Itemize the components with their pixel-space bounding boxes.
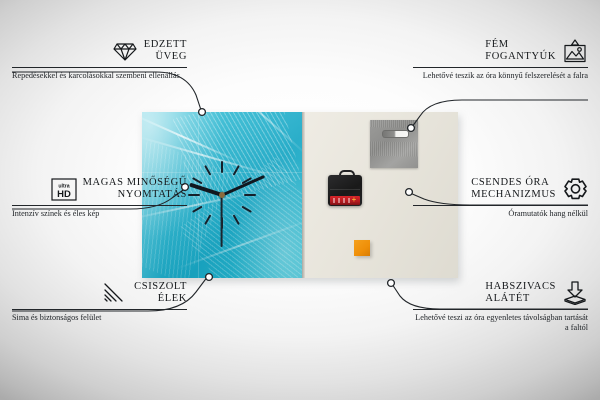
callout-polished-edges: CSISZOLT ÉLEK Sima és biztonságos felüle…	[12, 280, 187, 323]
battery: +	[330, 196, 360, 205]
picture-hanger-icon	[562, 38, 588, 64]
callout-description: Sima és biztonságos felület	[12, 313, 187, 323]
callout-metal-handles: FÉM FOGANTYÚK Lehetővé teszik az óra kön…	[413, 38, 588, 81]
callout-rule	[12, 309, 187, 310]
callout-title: EDZETT ÜVEG	[144, 39, 187, 64]
diamond-icon	[112, 38, 138, 64]
metal-hanger-plate	[370, 120, 418, 168]
gear-icon	[562, 176, 588, 202]
callout-rule	[413, 309, 588, 310]
callout-tempered-glass: EDZETT ÜVEG Repedésekkel és karcolásokka…	[12, 38, 187, 81]
callout-description: Repedésekkel és karcolásokkal szembeni e…	[12, 71, 187, 81]
callout-high-quality-print: ultra HD MAGAS MINŐSÉGŰ NYOMTATÁS Intenz…	[12, 176, 187, 219]
callout-rule	[413, 67, 588, 68]
callout-title: HABSZIVACS ALÁTÉT	[485, 281, 556, 306]
panel-divider	[302, 112, 305, 278]
callout-description: Lehetővé teszi az óra egyenletes távolsá…	[413, 313, 588, 333]
callout-title: CSENDES ÓRA MECHANIZMUS	[471, 177, 556, 202]
callout-rule	[12, 67, 187, 68]
clock-mechanism: +	[328, 170, 362, 206]
product-image: +	[142, 112, 458, 278]
callout-description: Óramutatók hang nélkül	[413, 209, 588, 219]
callout-description: Lehetővé teszik az óra könnyű felszerelé…	[413, 71, 588, 81]
callout-title: FÉM FOGANTYÚK	[485, 39, 556, 64]
svg-text:HD: HD	[57, 189, 71, 200]
callout-rule	[12, 205, 187, 206]
foam-pad-icon	[562, 280, 588, 306]
callout-silent-mechanism: CSENDES ÓRA MECHANIZMUS Óramutatók hang …	[413, 176, 588, 219]
callout-description: Intenzív színek és éles kép	[12, 209, 187, 219]
clock-center-cap	[219, 192, 225, 198]
battery-plus-label: +	[351, 197, 357, 203]
infographic-canvas: +	[0, 0, 600, 400]
callout-foam-spacer: HABSZIVACS ALÁTÉT Lehetővé teszi az óra …	[413, 280, 588, 333]
foam-spacer-pad	[354, 240, 370, 256]
mechanism-body: +	[328, 175, 362, 206]
ultra-hd-icon: ultra HD	[51, 176, 77, 202]
clock-second-hand	[221, 195, 223, 247]
callout-title: MAGAS MINŐSÉGŰ NYOMTATÁS	[83, 177, 187, 202]
callout-rule	[413, 205, 588, 206]
hanger-slot	[382, 130, 409, 138]
mechanism-seam	[330, 189, 360, 190]
callout-title: CSISZOLT ÉLEK	[134, 281, 187, 306]
polished-edges-icon	[102, 280, 128, 306]
